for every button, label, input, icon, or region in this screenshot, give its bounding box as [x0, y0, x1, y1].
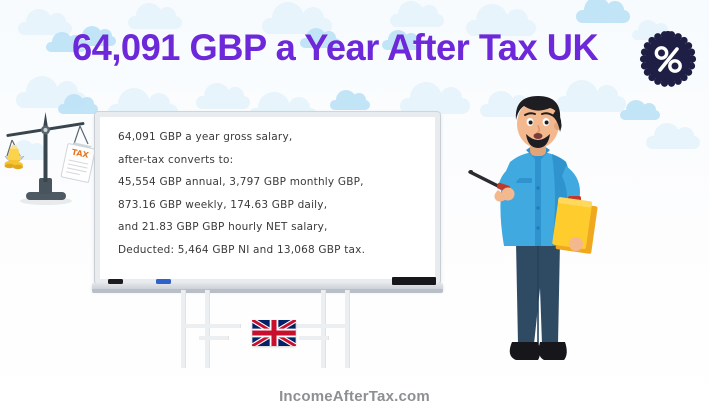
whiteboard-line: after-tax converts to: [118, 154, 419, 166]
whiteboard-line: and 21.83 GBP GBP hourly NET salary, [118, 221, 419, 233]
blue-marker-icon [156, 279, 171, 284]
whiteboard-line: 45,554 GBP annual, 3,797 GBP monthly GBP… [118, 176, 419, 188]
percent-badge-icon [639, 30, 697, 88]
black-marker-icon [108, 279, 123, 284]
whiteboard: 64,091 GBP a year gross salary, after-ta… [95, 112, 440, 284]
eraser-icon [392, 277, 436, 285]
uk-flag-icon [252, 320, 296, 346]
easel-leg [205, 290, 210, 368]
easel-crossbar [181, 324, 241, 328]
page-title: 64,091 GBP a Year After Tax UK [72, 22, 621, 74]
cloud-icon [196, 96, 250, 109]
cloud-icon [620, 110, 660, 120]
infographic-canvas: 64,091 GBP a Year After Tax UK [0, 0, 709, 419]
easel-leg [345, 290, 350, 368]
easel-leg [321, 290, 326, 368]
whiteboard-surface: 64,091 GBP a year gross salary, after-ta… [100, 117, 435, 279]
cloud-icon [646, 136, 700, 149]
whiteboard-line: 64,091 GBP a year gross salary, [118, 131, 419, 143]
site-footer-label: IncomeAfterTax.com [0, 388, 709, 405]
easel-crossbar [199, 336, 229, 340]
whiteboard-line: 873.16 GBP weekly, 174.63 GBP daily, [118, 199, 419, 211]
easel-crossbar [287, 324, 350, 328]
whiteboard-line: Deducted: 5,464 GBP NI and 13,068 GBP ta… [118, 244, 419, 256]
teacher-illustration [468, 92, 614, 384]
easel-leg [181, 290, 186, 368]
cloud-icon [330, 100, 370, 110]
easel-crossbar [299, 336, 329, 340]
balance-scales-icon: TAX [4, 104, 108, 208]
